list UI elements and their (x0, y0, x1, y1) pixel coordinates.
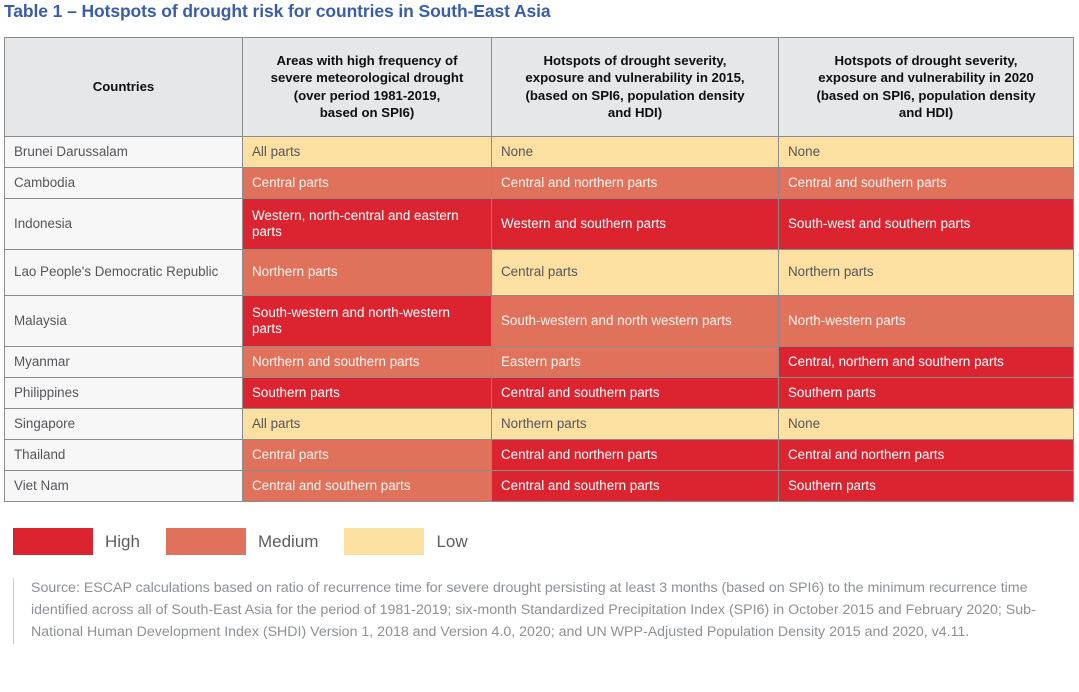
risk-cell-2020: Northern parts (779, 250, 1074, 296)
risk-cell-frequency: Southern parts (243, 378, 492, 409)
header-line: and HDI) (498, 104, 772, 121)
country-name: Singapore (5, 409, 243, 440)
table-row: Lao People's Democratic Republic Norther… (5, 250, 1074, 296)
risk-cell-frequency: Central parts (243, 440, 492, 471)
table-row: Cambodia Central parts Central and north… (5, 168, 1074, 199)
country-name: Cambodia (5, 168, 243, 199)
country-name: Indonesia (5, 199, 243, 250)
header-line: (based on SPI6, population density (498, 87, 772, 104)
legend-item-high: High (13, 528, 140, 555)
legend-swatch-medium-icon (166, 528, 246, 555)
country-name: Viet Nam (5, 471, 243, 502)
country-name: Philippines (5, 378, 243, 409)
header-line: exposure and vulnerability in 2020 (785, 69, 1067, 86)
risk-cell-2020: None (779, 137, 1074, 168)
column-header-countries: Countries (5, 38, 243, 137)
header-line: severe meteorological drought (249, 69, 485, 86)
table-row: Viet Nam Central and southern parts Cent… (5, 471, 1074, 502)
risk-cell-frequency: Western, north-central and eastern parts (243, 199, 492, 250)
risk-cell-frequency: South-western and north-western parts (243, 296, 492, 347)
risk-cell-2020: North-western parts (779, 296, 1074, 347)
header-line: (based on SPI6, population density (785, 87, 1067, 104)
page-title: Table 1 – Hotspots of drought risk for c… (4, 1, 551, 22)
risk-cell-frequency: Northern and southern parts (243, 347, 492, 378)
column-header-2020: Hotspots of drought severity, exposure a… (779, 38, 1074, 137)
legend-label-medium: Medium (258, 532, 318, 552)
risk-cell-2020: Central, northern and southern parts (779, 347, 1074, 378)
risk-cell-2020: Southern parts (779, 378, 1074, 409)
risk-cell-2020: Central and southern parts (779, 168, 1074, 199)
table-body: Brunei Darussalam All parts None None Ca… (5, 137, 1074, 502)
header-line: (over period 1981-2019, (249, 87, 485, 104)
risk-cell-2015: Central parts (492, 250, 779, 296)
legend-swatch-low-icon (344, 528, 424, 555)
country-name: Malaysia (5, 296, 243, 347)
risk-cell-2015: Central and southern parts (492, 378, 779, 409)
legend-swatch-high-icon (13, 528, 93, 555)
source-note-text: Source: ESCAP calculations based on rati… (31, 578, 1068, 644)
risk-cell-2015: Central and northern parts (492, 440, 779, 471)
table-figure-page: Table 1 – Hotspots of drought risk for c… (0, 0, 1079, 692)
header-line: Areas with high frequency of (249, 52, 485, 69)
country-name: Thailand (5, 440, 243, 471)
table-header: Countries Areas with high frequency of s… (5, 38, 1074, 137)
legend: High Medium Low (13, 528, 494, 555)
country-name: Myanmar (5, 347, 243, 378)
header-line: and HDI) (785, 104, 1067, 121)
country-name: Brunei Darussalam (5, 137, 243, 168)
table-row: Philippines Southern parts Central and s… (5, 378, 1074, 409)
legend-label-high: High (105, 532, 140, 552)
source-note: Source: ESCAP calculations based on rati… (13, 578, 1068, 644)
table-row: Indonesia Western, north-central and eas… (5, 199, 1074, 250)
risk-cell-2015: Northern parts (492, 409, 779, 440)
risk-cell-2020: None (779, 409, 1074, 440)
legend-item-medium: Medium (166, 528, 318, 555)
risk-cell-2015: South-western and north western parts (492, 296, 779, 347)
risk-cell-2020: South-west and southern parts (779, 199, 1074, 250)
risk-cell-frequency: Northern parts (243, 250, 492, 296)
header-line: based on SPI6) (249, 104, 485, 121)
risk-cell-frequency: Central and southern parts (243, 471, 492, 502)
header-line: Hotspots of drought severity, (498, 52, 772, 69)
table-row: Brunei Darussalam All parts None None (5, 137, 1074, 168)
risk-cell-frequency: Central parts (243, 168, 492, 199)
header-line: Countries (11, 78, 236, 95)
column-header-frequency: Areas with high frequency of severe mete… (243, 38, 492, 137)
drought-risk-table: Countries Areas with high frequency of s… (4, 37, 1074, 502)
header-line: Hotspots of drought severity, (785, 52, 1067, 69)
table-row: Myanmar Northern and southern parts East… (5, 347, 1074, 378)
risk-cell-2015: None (492, 137, 779, 168)
risk-cell-2015: Central and southern parts (492, 471, 779, 502)
risk-cell-2020: Southern parts (779, 471, 1074, 502)
table-row: Thailand Central parts Central and north… (5, 440, 1074, 471)
table-header-row: Countries Areas with high frequency of s… (5, 38, 1074, 137)
risk-cell-2015: Eastern parts (492, 347, 779, 378)
column-header-2015: Hotspots of drought severity, exposure a… (492, 38, 779, 137)
table-row: Singapore All parts Northern parts None (5, 409, 1074, 440)
header-line: exposure and vulnerability in 2015, (498, 69, 772, 86)
risk-cell-frequency: All parts (243, 137, 492, 168)
country-name: Lao People's Democratic Republic (5, 250, 243, 296)
risk-cell-2015: Central and northern parts (492, 168, 779, 199)
risk-cell-2020: Central and northern parts (779, 440, 1074, 471)
table-row: Malaysia South-western and north-western… (5, 296, 1074, 347)
risk-cell-frequency: All parts (243, 409, 492, 440)
risk-cell-2015: Western and southern parts (492, 199, 779, 250)
legend-label-low: Low (436, 532, 467, 552)
legend-item-low: Low (344, 528, 467, 555)
